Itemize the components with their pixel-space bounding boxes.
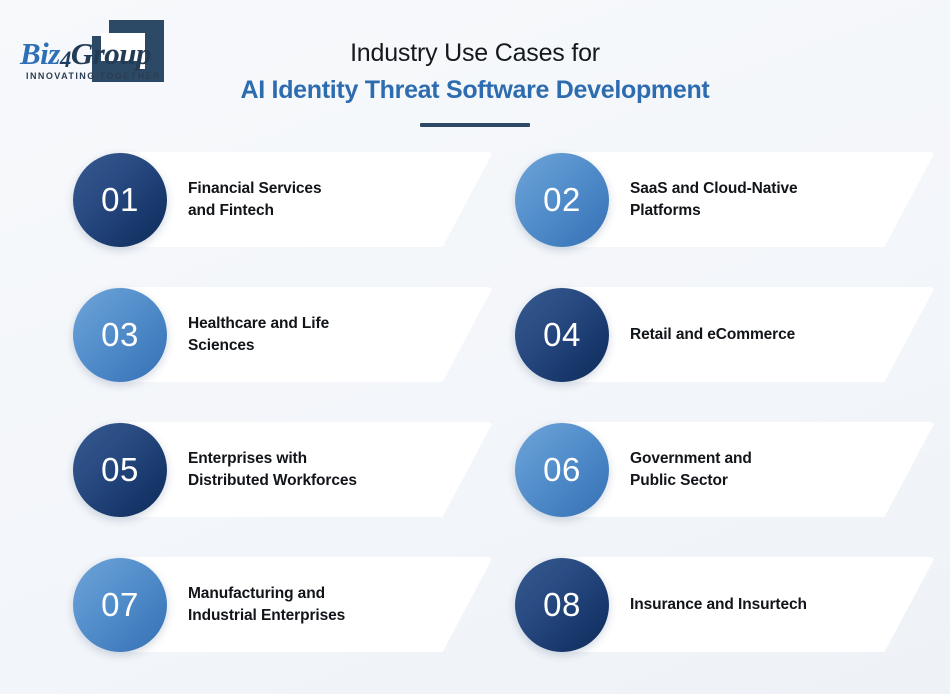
logo-tagline: INNOVATING TOGETHER	[26, 71, 161, 81]
card-number-badge: 02	[515, 153, 609, 247]
use-case-card: 05 Enterprises with Distributed Workforc…	[73, 422, 493, 517]
card-number-badge: 03	[73, 288, 167, 382]
card-number-badge: 04	[515, 288, 609, 382]
card-label: Financial Services and Fintech	[188, 178, 321, 222]
use-case-grid: 01 Financial Services and Fintech 02 Saa…	[0, 152, 950, 652]
logo-wordmark: Biz4Group	[20, 36, 160, 73]
use-case-card: 01 Financial Services and Fintech	[73, 152, 493, 247]
card-label: Healthcare and Life Sciences	[188, 313, 329, 357]
use-case-card: 02 SaaS and Cloud-Native Platforms	[515, 152, 935, 247]
logo-word-four: 4	[60, 47, 71, 72]
use-case-card: 06 Government and Public Sector	[515, 422, 935, 517]
infographic-page: Biz4Group INNOVATING TOGETHER Industry U…	[0, 0, 950, 694]
card-label: Government and Public Sector	[630, 448, 752, 492]
card-label: Insurance and Insurtech	[630, 594, 807, 616]
use-case-card: 03 Healthcare and Life Sciences	[73, 287, 493, 382]
card-number-badge: 07	[73, 558, 167, 652]
logo-word-group: Group	[71, 36, 151, 71]
card-number-badge: 05	[73, 423, 167, 517]
card-number-badge: 08	[515, 558, 609, 652]
use-case-card: 07 Manufacturing and Industrial Enterpri…	[73, 557, 493, 652]
card-number-badge: 06	[515, 423, 609, 517]
use-case-card: 08 Insurance and Insurtech	[515, 557, 935, 652]
card-label: Manufacturing and Industrial Enterprises	[188, 583, 345, 627]
title-underline-rule	[420, 123, 530, 127]
card-label: Retail and eCommerce	[630, 324, 795, 346]
logo-word-biz: Biz	[20, 36, 60, 71]
card-number-badge: 01	[73, 153, 167, 247]
use-case-card: 04 Retail and eCommerce	[515, 287, 935, 382]
card-label: Enterprises with Distributed Workforces	[188, 448, 357, 492]
card-label: SaaS and Cloud-Native Platforms	[630, 178, 798, 222]
